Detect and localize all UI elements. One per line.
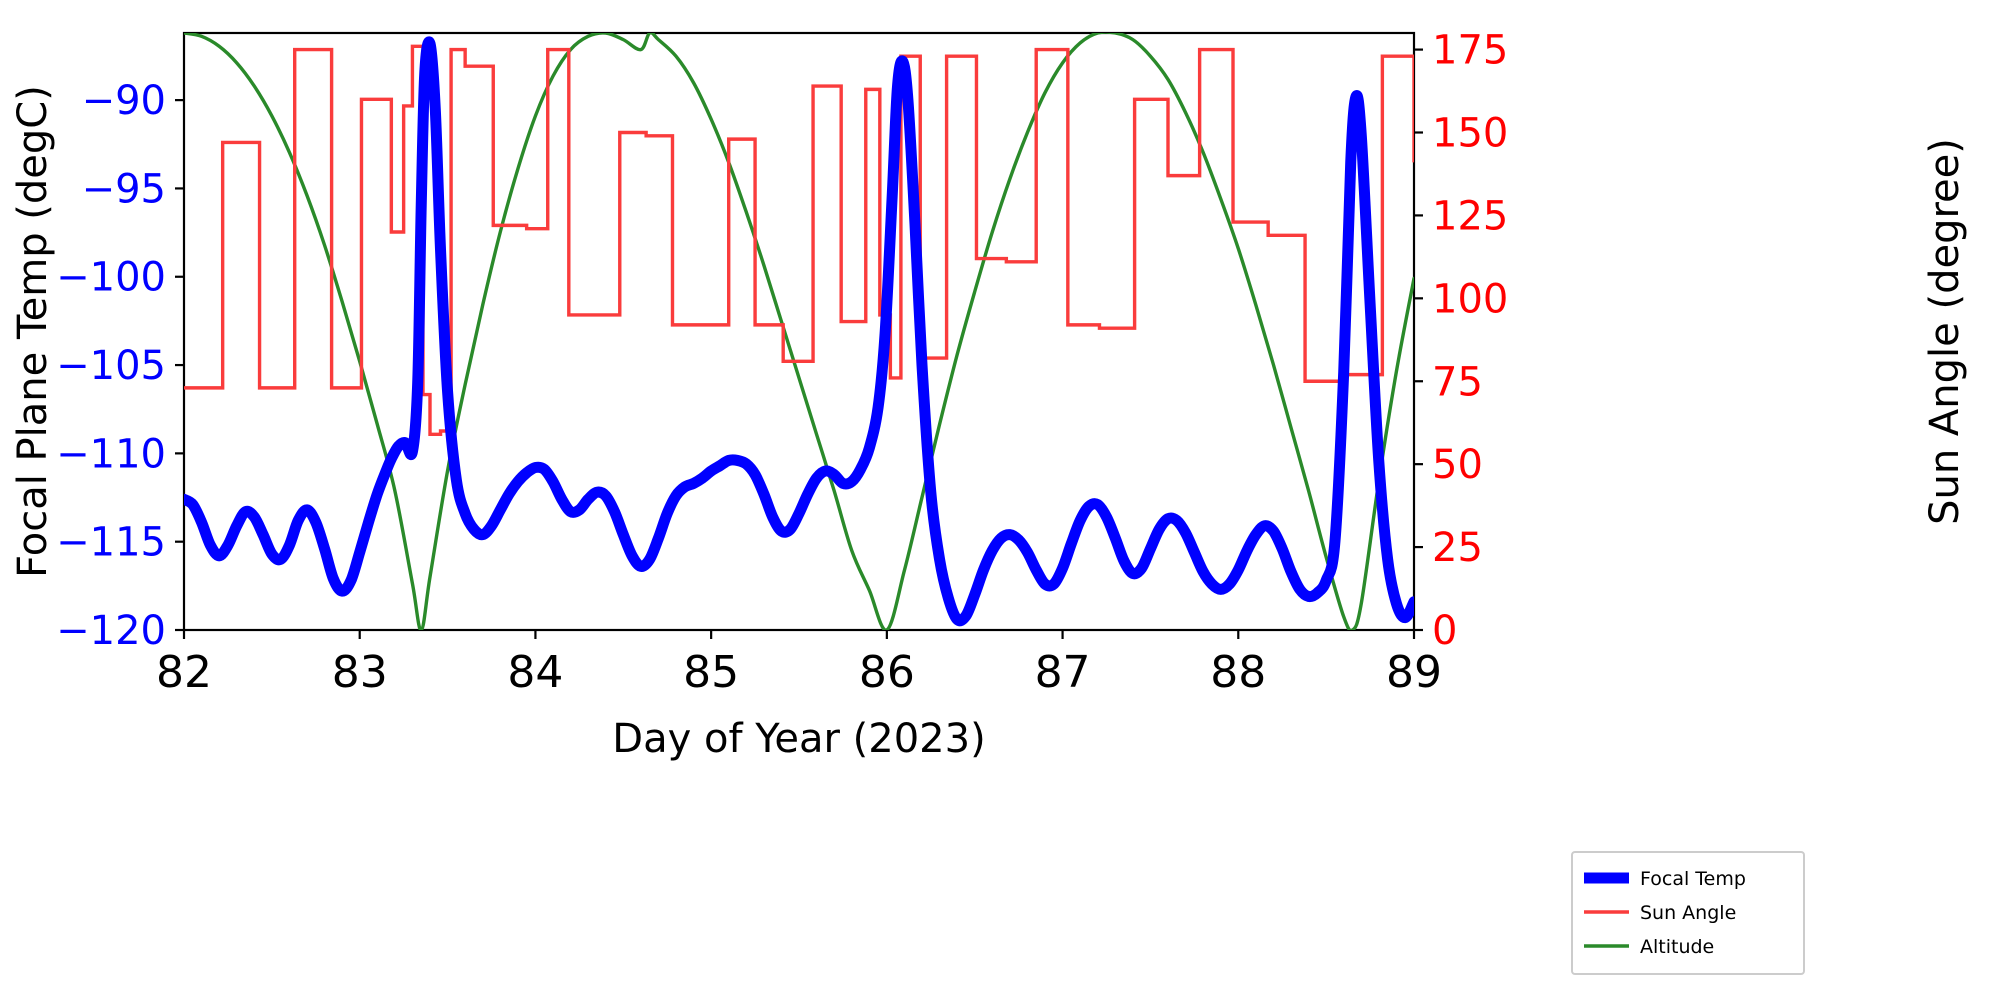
right-tick-label-100: 100 (1432, 276, 1508, 322)
left-axis-label: Focal Plane Temp (degC) (10, 85, 56, 578)
legend-label-1: Sun Angle (1640, 902, 1736, 924)
x-tick-label-86: 86 (859, 647, 915, 698)
right-axis-ticks (1414, 50, 1423, 630)
x-tick-label-83: 83 (332, 647, 388, 698)
x-tick-label-88: 88 (1210, 647, 1266, 698)
legend-label-0: Focal Temp (1640, 868, 1746, 890)
right-tick-label-125: 125 (1432, 193, 1508, 239)
left-tick-label--105: −105 (56, 343, 166, 389)
chart-legend[interactable]: Focal TempSun AngleAltitude (1572, 852, 1804, 974)
left-tick-label--110: −110 (56, 431, 166, 477)
right-tick-label-0: 0 (1432, 608, 1457, 654)
x-tick-label-82: 82 (156, 647, 212, 698)
right-tick-label-150: 150 (1432, 111, 1508, 157)
left-tick-label--100: −100 (56, 255, 166, 301)
x-tick-label-89: 89 (1386, 647, 1442, 698)
left-axis-ticks (175, 100, 184, 630)
right-axis-label: Sun Angle (degree) (1922, 138, 1968, 525)
right-tick-label-75: 75 (1432, 359, 1483, 405)
x-tick-label-84: 84 (507, 647, 563, 698)
legend-label-2: Altitude (1640, 936, 1714, 958)
right-tick-label-50: 50 (1432, 442, 1483, 488)
x-tick-label-87: 87 (1035, 647, 1091, 698)
chart-canvas: 8283848586878889 −90−95−100−105−110−115−… (0, 0, 2000, 1000)
series-line-focal-temp (184, 42, 1414, 621)
right-tick-label-175: 175 (1432, 28, 1508, 74)
x-axis-label: Day of Year (2023) (612, 716, 985, 762)
left-axis-tick-labels: −90−95−100−105−110−115−120 (56, 78, 166, 654)
right-axis-tick-labels: 0255075100125150175 (1432, 28, 1508, 654)
left-tick-label--95: −95 (82, 166, 166, 212)
x-tick-label-85: 85 (683, 647, 739, 698)
x-axis-tick-labels: 8283848586878889 (156, 647, 1442, 698)
left-tick-label--120: −120 (56, 608, 166, 654)
right-tick-label-25: 25 (1432, 525, 1483, 571)
left-tick-label--115: −115 (56, 520, 166, 566)
left-tick-label--90: −90 (82, 78, 166, 124)
x-axis-ticks (184, 630, 1414, 639)
chart-page: 8283848586878889 −90−95−100−105−110−115−… (0, 0, 2000, 1000)
